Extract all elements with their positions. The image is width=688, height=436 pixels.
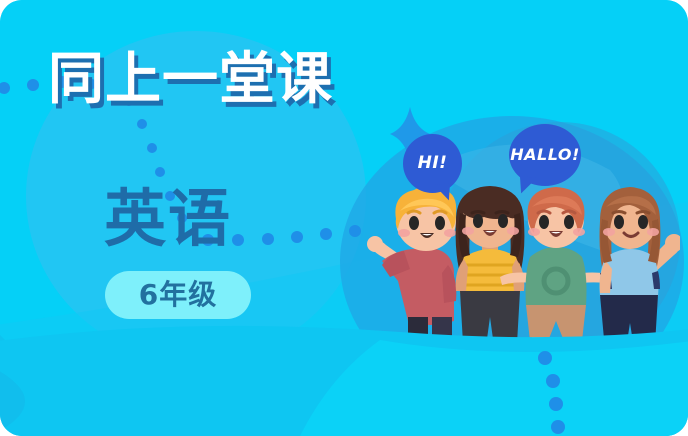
page-title: 同上一堂课 <box>48 52 333 108</box>
speech-bubble-hallo-text: HALLO! <box>510 147 580 163</box>
speech-bubble-tail <box>518 176 537 195</box>
four-children-illustration <box>360 185 680 365</box>
course-banner: 同上一堂课 英语 6年级 HI! HALLO! <box>0 0 688 436</box>
speech-bubble-hallo: HALLO! <box>509 124 581 186</box>
grade-badge-label: 6年级 <box>139 281 217 309</box>
speech-bubble-hi: HI! <box>403 134 462 193</box>
child-girl-auburn-waving <box>600 187 681 361</box>
grade-badge[interactable]: 6年级 <box>105 271 251 319</box>
subject-title: 英语 <box>104 188 232 250</box>
title-block: 同上一堂课 英语 6年级 <box>0 0 360 436</box>
speech-bubble-tail <box>434 183 452 202</box>
speech-bubble-hi-text: HI! <box>418 155 448 172</box>
child-boy-blond-waving <box>367 186 456 359</box>
